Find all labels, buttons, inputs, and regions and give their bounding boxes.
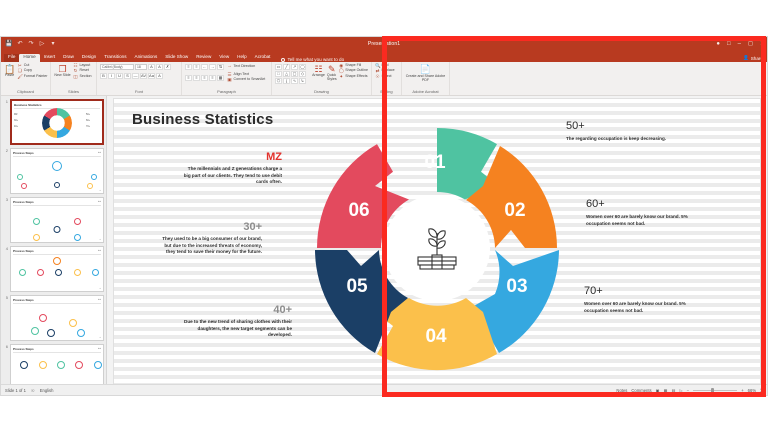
donut-chart[interactable]: 01 02 03 04 05 06 [313, 124, 561, 372]
shape-effects-label: Shape Effects [345, 75, 367, 79]
text-block-30plus[interactable]: 30+ They used to be a big consumer of ou… [158, 222, 262, 256]
account-icon[interactable]: ● [716, 41, 720, 47]
tab-slide-show[interactable]: Slide Show [161, 54, 192, 62]
reset-icon: ↻ [73, 69, 78, 74]
paintbrush-icon: 🖌 [17, 75, 22, 80]
thumbnail-badge: ●● [98, 298, 101, 301]
select-label: Select [382, 75, 392, 79]
language-label[interactable]: English [40, 388, 54, 393]
shape-outline-label: Shape Outline [345, 69, 368, 73]
thumbnail-slide-1[interactable]: Business Statistics MZ30+40+ 50+60+70+ [10, 99, 104, 145]
align-center-button[interactable]: ≡ [193, 75, 200, 81]
text-block-heading: MZ [180, 152, 282, 163]
thumbnail-badge: ●● [98, 200, 101, 203]
text-shadow-button[interactable]: S [124, 73, 131, 79]
thumbnail-row[interactable]: 4 Process Steps ●● [3, 246, 104, 292]
group-title-clipboard: Clipboard [4, 90, 47, 95]
thumbnail-slide-3[interactable]: Process Steps ●● ● [10, 197, 104, 243]
donut-label-03: 03 [506, 276, 527, 297]
shape-pentagon-icon[interactable]: ⬠ [275, 78, 282, 84]
text-block-heading: 60+ [586, 199, 706, 210]
thumbnail-title: Process Steps [13, 298, 101, 302]
arrange-button[interactable]: ☷ Arrange [312, 64, 325, 78]
shape-round-rect-icon[interactable]: ▢ [291, 71, 298, 77]
reset-button[interactable]: ↻ Reset [73, 69, 92, 74]
copy-button[interactable]: ❏ Copy [17, 69, 47, 74]
line-spacing-button[interactable]: ⇅ [217, 64, 224, 70]
smartart-label: Convert to SmartArt [234, 78, 266, 82]
group-title-paragraph: Paragraph [185, 90, 268, 95]
status-bar[interactable]: Slide 1 of 1 ☉ English Notes Comments ▣ … [1, 384, 767, 395]
text-block-heading: 70+ [584, 286, 704, 297]
thumbnail-title: Process Steps [13, 200, 101, 204]
shape-connector-icon[interactable]: ↳ [299, 78, 306, 84]
screenshot-root: 💾 ↶ ↷ ▷ ▾ Presentation1 ● □ – ◻ ✕ File H… [0, 0, 768, 432]
shape-square-icon[interactable]: □ [275, 71, 282, 77]
increase-font-size-button[interactable]: A [148, 64, 155, 70]
zoom-slider[interactable] [693, 390, 737, 391]
section-button[interactable]: ◫ Section [73, 75, 92, 80]
text-block-body: Women over 60 are barely know our brand.… [584, 301, 704, 314]
donut-label-06: 06 [348, 200, 369, 221]
align-right-button[interactable]: ≡ [201, 75, 208, 81]
thumbnail-number: 1 [3, 99, 8, 104]
text-direction-button[interactable]: → Text Direction [227, 64, 255, 69]
donut-center-hub [384, 195, 490, 301]
status-bar-right[interactable]: Notes Comments ▣ ▦ ▤ ▷ − + 66% ⛶ [616, 388, 763, 393]
text-block-body: The millennials and Z generations charge… [180, 166, 282, 186]
ribbon-group-editing: 🔍 Find ⇄ Replace ☉ Select Editing [372, 62, 402, 95]
title-bar: 💾 ↶ ↷ ▷ ▾ Presentation1 ● □ – ◻ ✕ [1, 37, 767, 51]
window-controls[interactable]: ● □ – ◻ ✕ [716, 37, 765, 51]
tab-home[interactable]: Home [19, 54, 39, 62]
text-block-50plus[interactable]: 50+ The regarding occupation is keep dec… [566, 121, 684, 143]
replace-label: Replace [382, 69, 395, 73]
group-title-editing: Editing [375, 90, 398, 95]
find-label: Find [382, 64, 389, 68]
thumbnail-right-text: 50+60+70+ [86, 113, 100, 131]
zoom-slider-knob[interactable] [711, 388, 714, 393]
text-block-body: They used to be a big consumer of our br… [158, 236, 262, 256]
columns-button[interactable]: ▦ [217, 75, 224, 81]
donut-label-04: 04 [425, 326, 447, 347]
clear-formatting-button[interactable]: ✗ [164, 64, 171, 70]
paste-button[interactable]: 📋 Paste [4, 64, 15, 78]
cut-label: Cut [24, 64, 30, 68]
underline-button[interactable]: U [116, 73, 123, 79]
ribbon-group-paragraph: ≡ ≡ ← → ⇅ → Text Direction ≡ ≡ ≡ [182, 62, 272, 95]
tab-acrobat[interactable]: Acrobat [251, 54, 275, 62]
donut-label-01: 01 [424, 152, 446, 173]
tab-animations[interactable]: Animations [131, 54, 162, 62]
text-block-heading: 40+ [182, 305, 292, 316]
page-title[interactable]: Business Statistics [132, 111, 273, 128]
decrease-font-size-button[interactable]: A [156, 64, 163, 70]
section-icon: ◫ [73, 75, 78, 80]
thumbnail-number: 5 [3, 295, 8, 300]
thumbnail-title: Business Statistics [14, 103, 100, 107]
acrobat-pdf-icon: 📄 [420, 64, 431, 74]
replace-icon: ⇄ [375, 69, 380, 74]
thumbnail-slide-2[interactable]: Process Steps ●● ● [10, 148, 104, 194]
thumbnail-badge: ●● [98, 151, 101, 154]
slide-counter: Slide 1 of 1 [5, 388, 26, 393]
text-block-heading: 50+ [566, 121, 684, 132]
view-normal-icon[interactable]: ▣ [656, 388, 660, 393]
text-block-mz[interactable]: MZ The millennials and Z generations cha… [180, 152, 282, 186]
share-button[interactable]: 👤 Share [743, 55, 763, 61]
text-block-body: The regarding occupation is keep decreas… [566, 136, 684, 143]
text-block-70plus[interactable]: 70+ Women over 60 are barely know our br… [584, 286, 704, 314]
thumbnail-footer: ● [100, 189, 101, 192]
quick-styles-icon: ✎ [328, 64, 336, 74]
thumbnail-row[interactable]: 1 Business Statistics MZ30+40+ 50+60+70+ [3, 99, 104, 145]
create-and-share-pdf-label: Create and Share Adobe PDF [405, 74, 446, 82]
thumbnail-badge: ●● [98, 249, 101, 252]
ribbon-group-acrobat: 📄 Create and Share Adobe PDF Adobe Acrob… [402, 62, 450, 95]
tab-help[interactable]: Help [233, 54, 250, 62]
text-block-body: Due to the new trend of sharing clothes … [182, 319, 292, 339]
thumbnail-footer: ● [100, 287, 101, 290]
copy-icon: ❏ [17, 69, 22, 74]
view-reading-icon[interactable]: ▤ [672, 388, 676, 393]
restore-icon[interactable]: ◻ [748, 41, 753, 47]
shape-rectangle-icon[interactable]: ▭ [275, 64, 282, 70]
thumbnail-row[interactable]: 2 Process Steps ●● [3, 148, 104, 194]
format-painter-label: Format Painter [24, 75, 48, 79]
thumbnail-slide-4[interactable]: Process Steps ●● [10, 246, 104, 292]
ribbon-group-clipboard: 📋 Paste ✂ Cut ❏ Copy 🖌 [1, 62, 51, 95]
slide-canvas[interactable]: Business Statistics MZ The millennials a… [113, 98, 761, 396]
justify-button[interactable]: ≡ [209, 75, 216, 81]
share-icon: 👤 [743, 55, 749, 61]
align-text-label: Align Text [234, 73, 250, 77]
tab-insert[interactable]: Insert [40, 54, 60, 62]
quick-styles-label: Quick Styles [327, 74, 337, 81]
text-direction-icon: → [227, 64, 232, 69]
select-icon: ☉ [375, 75, 380, 80]
numbering-button[interactable]: ≡ [193, 64, 200, 70]
increase-indent-button[interactable]: → [209, 64, 216, 70]
tab-view[interactable]: View [215, 54, 233, 62]
shape-fill-label: Shape Fill [345, 64, 361, 68]
window-title: Presentation1 [1, 41, 767, 47]
shape-curve-icon[interactable]: ∿ [291, 78, 298, 84]
fit-to-window-icon[interactable]: ⛶ [760, 388, 763, 393]
thumbnail-badge: ●● [98, 347, 101, 350]
group-title-slides: Slides [54, 90, 93, 95]
thumbnail-title: Process Steps [13, 347, 101, 351]
layout-label: Layout [80, 64, 91, 68]
shape-outline-icon: ◯ [339, 69, 344, 74]
tab-transitions[interactable]: Transitions [100, 54, 130, 62]
strikethrough-button[interactable]: — [132, 73, 139, 79]
close-icon[interactable]: ✕ [760, 41, 765, 47]
smartart-icon: ▣ [227, 78, 232, 83]
ribbon-group-font: Calibri (Body) 18 A A ✗ B I U S — AV Aa [97, 62, 182, 95]
thumbnail-row[interactable]: 5 Process Steps ●● ● [3, 295, 104, 341]
section-label: Section [80, 75, 92, 79]
replace-button[interactable]: ⇄ Replace [375, 69, 395, 74]
bullets-button[interactable]: ≡ [185, 64, 192, 70]
thumbnail-number: 4 [3, 246, 8, 251]
align-text-button[interactable]: ☰ Align Text [227, 73, 265, 78]
accessibility-icon[interactable]: ☉ [31, 388, 35, 393]
notes-button[interactable]: Notes [616, 388, 627, 393]
ribbon-tabs[interactable]: File Home Insert Draw Design Transitions… [1, 51, 767, 62]
thumbnail-left-text: MZ30+40+ [14, 113, 28, 131]
donut-label-02: 02 [504, 200, 525, 221]
shape-effects-button[interactable]: ✦ Shape Effects [339, 75, 368, 80]
reset-label: Reset [80, 69, 89, 73]
text-direction-label: Text Direction [234, 65, 256, 69]
share-label: Share [751, 56, 763, 61]
shape-outline-button[interactable]: ◯ Shape Outline [339, 69, 368, 74]
create-and-share-pdf-button[interactable]: 📄 Create and Share Adobe PDF [405, 64, 446, 83]
tab-design[interactable]: Design [78, 54, 100, 62]
paste-icon: 📋 [4, 64, 15, 74]
thumbnail-title: Process Steps [13, 151, 101, 155]
font-color-button[interactable]: A [156, 73, 163, 79]
bold-button[interactable]: B [100, 73, 107, 79]
thumbnail-number: 3 [3, 197, 8, 202]
thumbnail-footer: ● [100, 336, 101, 339]
ribbon-group-slides: ❐ New Slide ☷ Layout ↻ Reset ◫ [51, 62, 97, 95]
quick-styles-button[interactable]: ✎ Quick Styles [327, 64, 337, 82]
comments-button[interactable]: Comments [631, 388, 651, 393]
text-block-60plus[interactable]: 60+ Women over 60 are barely know our br… [586, 199, 706, 227]
shape-oval-icon[interactable]: ◯ [299, 64, 306, 70]
view-sorter-icon[interactable]: ▦ [664, 388, 668, 393]
shape-effects-icon: ✦ [339, 75, 344, 80]
thumbnail-slide-5[interactable]: Process Steps ●● ● [10, 295, 104, 341]
thumbnail-donut-chart [42, 108, 72, 138]
ribbon-options-icon[interactable]: □ [727, 41, 731, 47]
character-spacing-button[interactable]: AV [140, 73, 147, 79]
tab-draw[interactable]: Draw [59, 54, 78, 62]
shape-diamond-icon[interactable]: ◇ [299, 71, 306, 77]
powerpoint-window: 💾 ↶ ↷ ▷ ▾ Presentation1 ● □ – ◻ ✕ File H… [0, 36, 768, 396]
thumbnail-number: 2 [3, 148, 8, 153]
font-name-input[interactable]: Calibri (Body) [100, 64, 134, 70]
shapes-gallery[interactable]: ▭ ╱ ↗ ◯ □ △ ▢ ◇ ⬠ { ∿ ↳ [275, 64, 310, 84]
italic-button[interactable]: I [108, 73, 115, 79]
shape-brace-icon[interactable]: { [283, 78, 290, 84]
lightbulb-icon [281, 58, 285, 62]
slide-thumbnail-pane[interactable]: 1 Business Statistics MZ30+40+ 50+60+70+ [1, 96, 107, 395]
change-case-button[interactable]: Aa [148, 73, 155, 79]
align-left-button[interactable]: ≡ [185, 75, 192, 81]
thumbnail-title: Process Steps [13, 249, 101, 253]
text-block-40plus[interactable]: 40+ Due to the new trend of sharing clot… [182, 305, 292, 339]
donut-label-05: 05 [346, 276, 368, 297]
zoom-out-button[interactable]: − [687, 388, 689, 393]
text-block-body: Women over 60 are barely know our brand.… [586, 214, 706, 227]
workspace: 1 Business Statistics MZ30+40+ 50+60+70+ [1, 96, 767, 395]
group-title-acrobat: Adobe Acrobat [405, 90, 446, 95]
thumbnail-row[interactable]: 3 Process Steps ●● ● [3, 197, 104, 243]
shape-arrow-icon[interactable]: ↗ [291, 64, 298, 70]
select-button[interactable]: ☉ Select [375, 75, 395, 80]
format-painter-button[interactable]: 🖌 Format Painter [17, 75, 47, 80]
slide-canvas-area[interactable]: Business Statistics MZ The millennials a… [107, 96, 767, 395]
ribbon-group-drawing: ▭ ╱ ↗ ◯ □ △ ▢ ◇ ⬠ { ∿ ↳ ☷ [272, 62, 372, 95]
shape-triangle-icon[interactable]: △ [283, 71, 290, 77]
arrange-icon: ☷ [314, 64, 322, 74]
paste-label: Paste [5, 74, 14, 78]
zoom-level[interactable]: 66% [748, 388, 756, 393]
ribbon-content: 📋 Paste ✂ Cut ❏ Copy 🖌 [1, 62, 767, 96]
group-title-drawing: Drawing [275, 90, 368, 95]
new-slide-label: New Slide [54, 74, 70, 78]
copy-label: Copy [24, 69, 32, 73]
money-plant-growth-icon [406, 217, 468, 279]
thumbnail-footer: ● [100, 238, 101, 241]
group-title-font: Font [100, 90, 178, 95]
zoom-in-button[interactable]: + [741, 388, 743, 393]
new-slide-button[interactable]: ❐ New Slide [54, 64, 71, 78]
tab-file[interactable]: File [4, 54, 19, 62]
shape-line-icon[interactable]: ╱ [283, 64, 290, 70]
arrange-label: Arrange [312, 74, 325, 78]
tab-review[interactable]: Review [192, 54, 215, 62]
convert-to-smartart-button[interactable]: ▣ Convert to SmartArt [227, 78, 265, 83]
minimize-icon[interactable]: – [738, 41, 741, 47]
decrease-indent-button[interactable]: ← [201, 64, 208, 70]
view-slideshow-icon[interactable]: ▷ [680, 388, 683, 393]
font-size-input[interactable]: 18 [135, 64, 147, 70]
text-block-heading: 30+ [158, 222, 262, 233]
thumbnail-number: 6 [3, 344, 8, 349]
new-slide-icon: ❐ [58, 64, 66, 74]
